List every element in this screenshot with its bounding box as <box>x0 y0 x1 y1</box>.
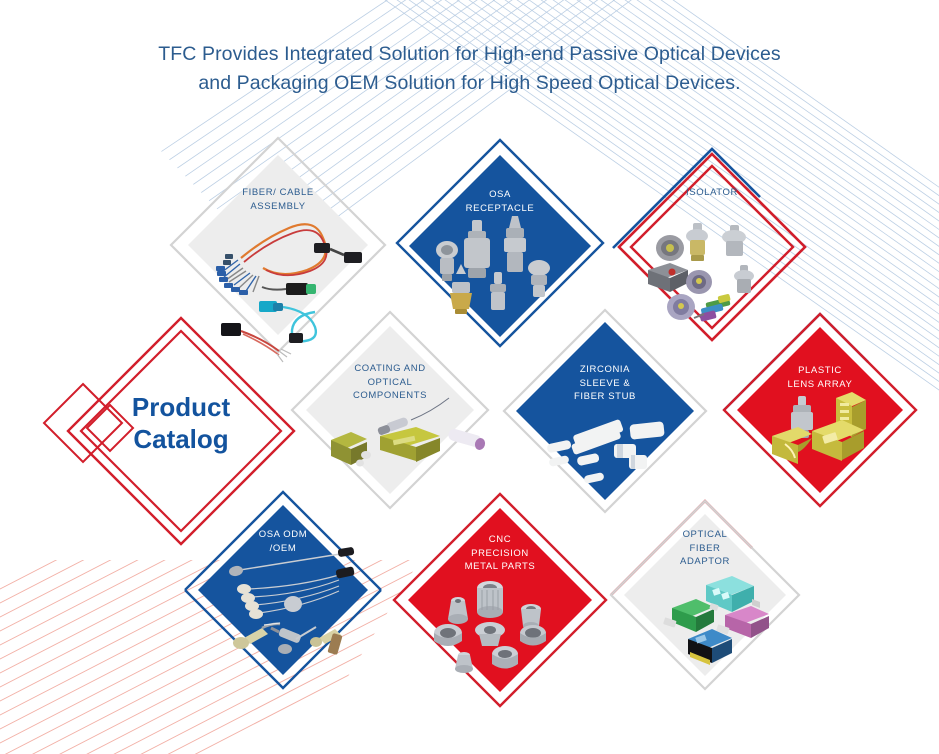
catalog-poster: TFC Provides Integrated Solution for Hig… <box>0 0 939 754</box>
tile-isolator[interactable] <box>613 149 805 340</box>
product-illustration-isolator <box>648 223 754 322</box>
tile-zirconia-sleeve-and-fiber-stub[interactable] <box>504 310 706 512</box>
diamond-grid <box>0 0 939 754</box>
tile-fill-diamond <box>306 326 474 494</box>
tile-fill-diamond <box>516 322 694 500</box>
tile-plastic-lens-array[interactable] <box>724 314 916 506</box>
tile-fiber-cable-assembly[interactable] <box>171 138 385 362</box>
product-catalog-label: Product Catalog <box>101 391 261 455</box>
tile-fill-diamond <box>737 327 903 493</box>
tile-cnc-precision-metal-parts[interactable] <box>394 494 606 706</box>
tile-osa-receptacle[interactable] <box>397 140 603 346</box>
tile-optical-fiber-adaptor[interactable] <box>611 501 799 689</box>
tile-osa-odm-oem[interactable] <box>185 492 381 688</box>
tile-coating-and-optical-components[interactable] <box>292 312 488 508</box>
